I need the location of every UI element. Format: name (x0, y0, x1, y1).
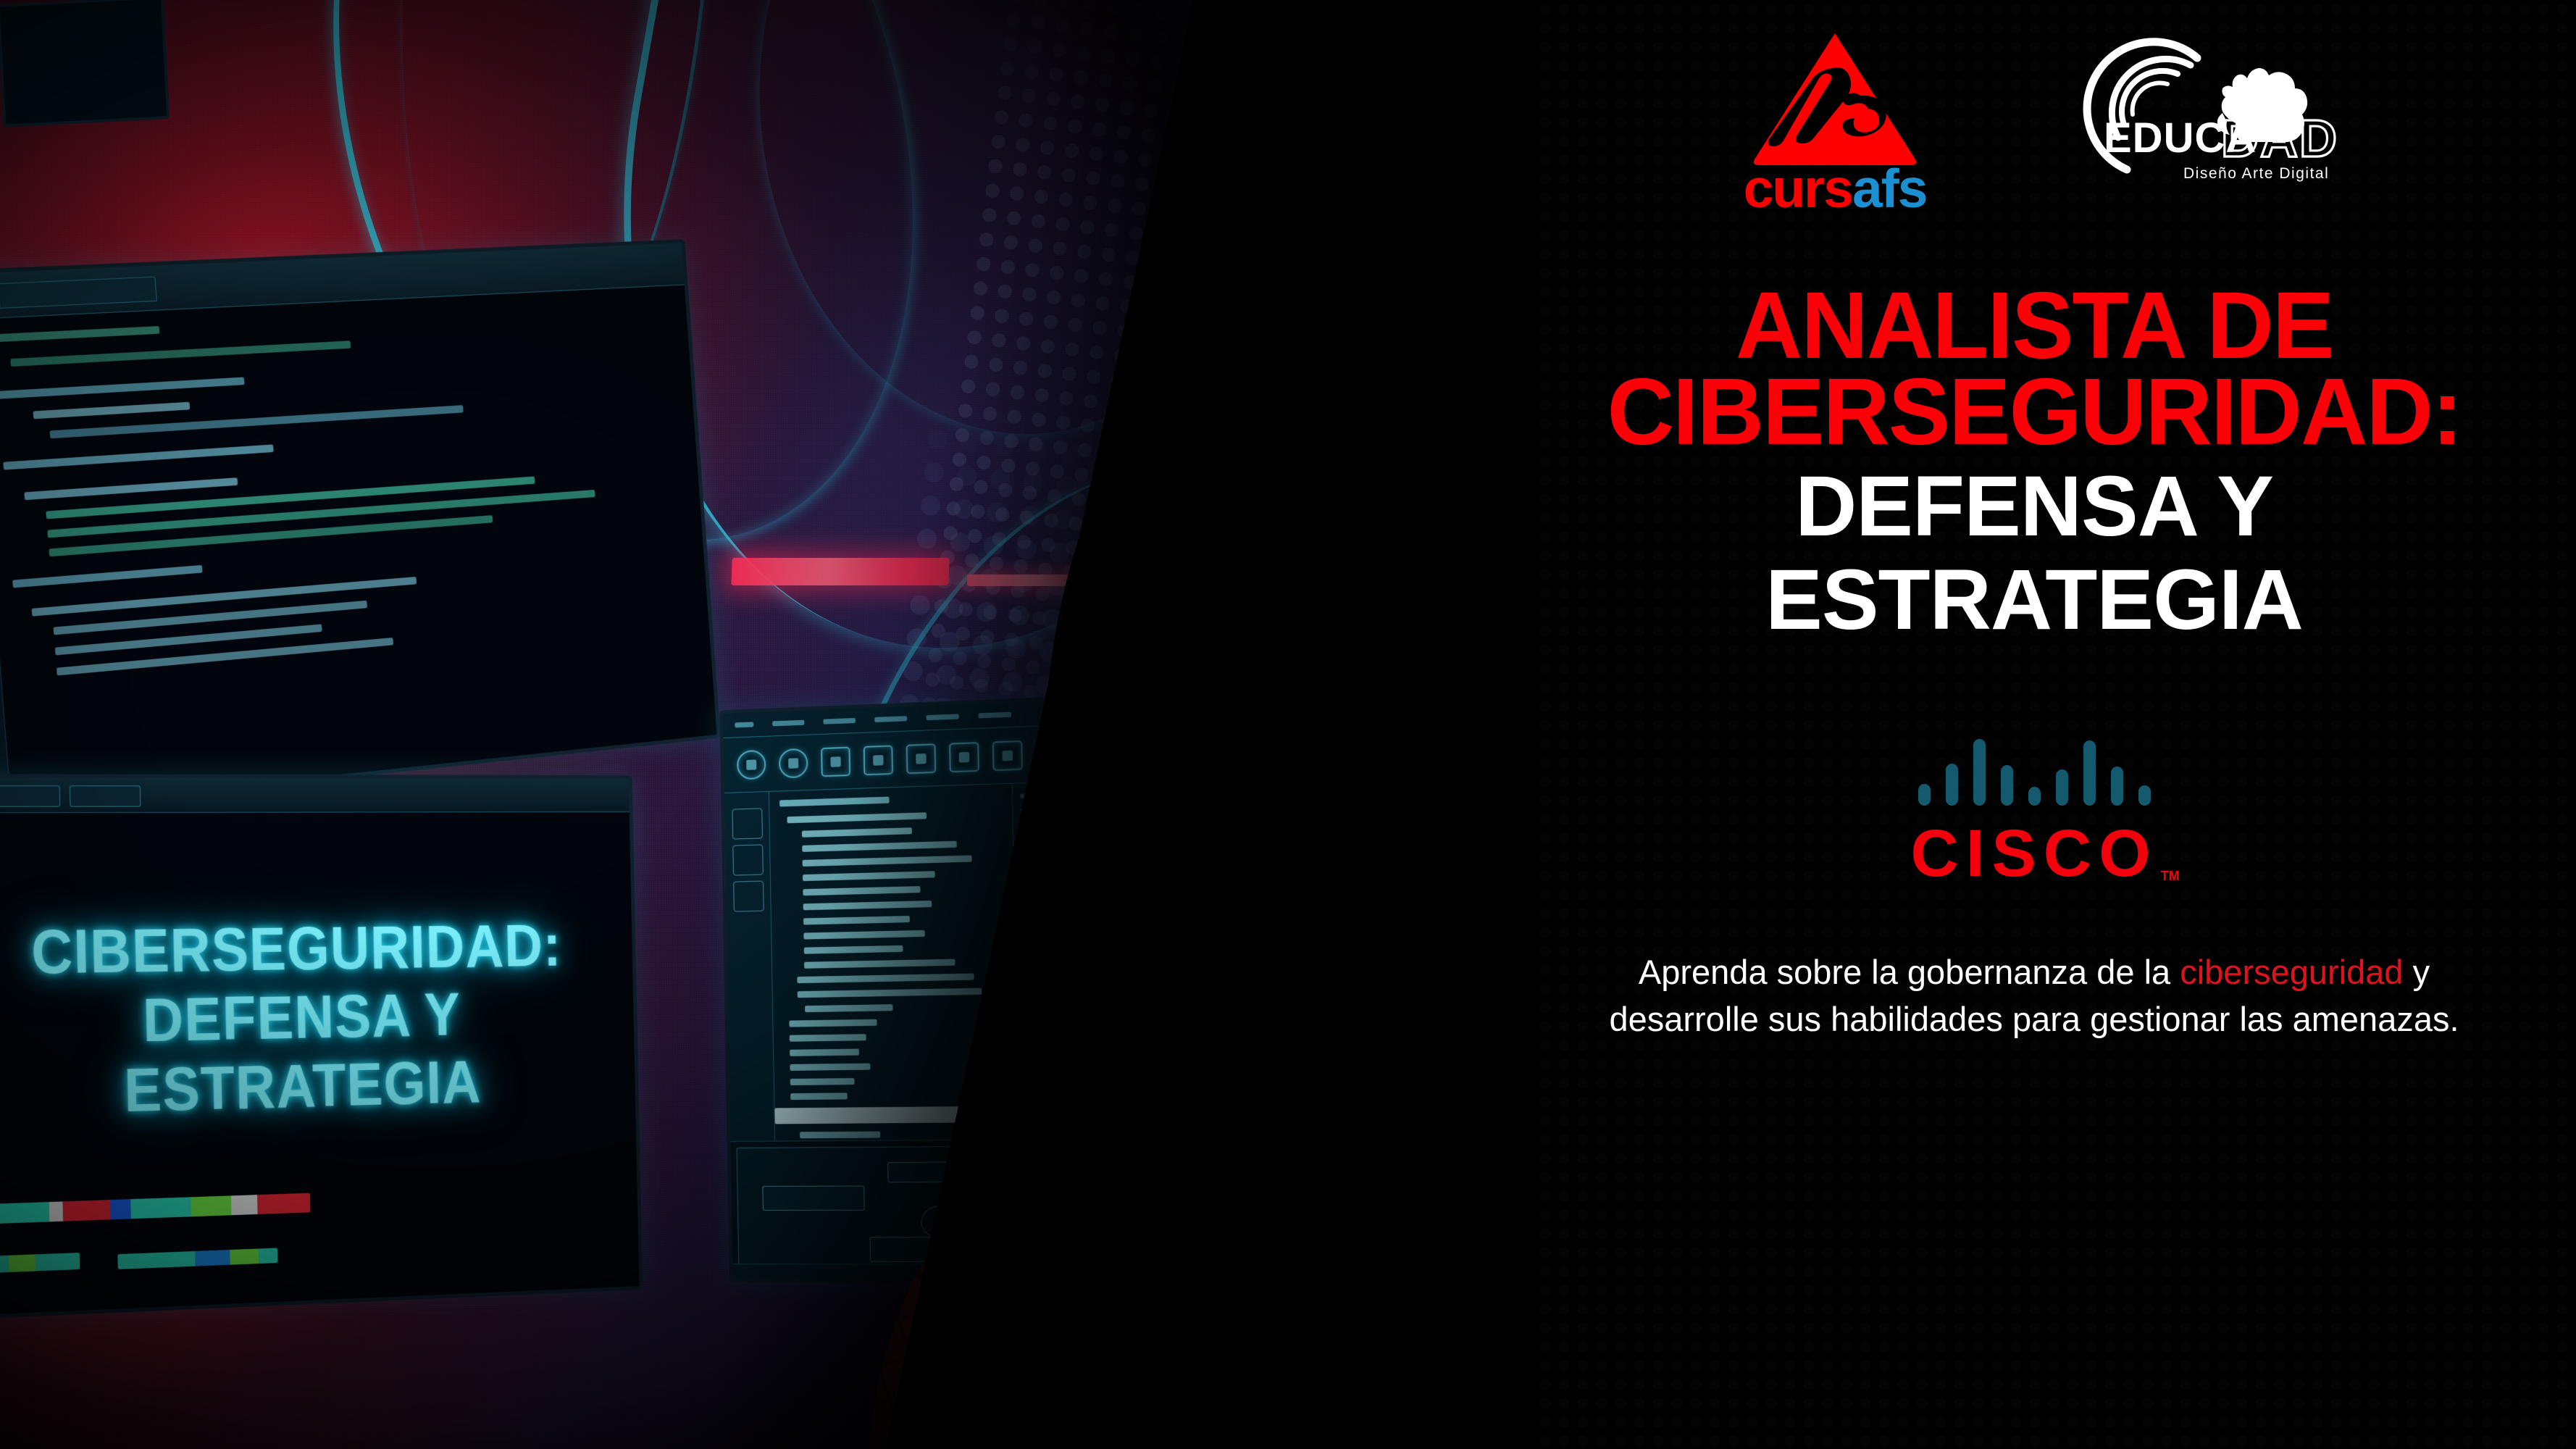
course-description: Aprenda sobre la gobernanza de la cibers… (1579, 949, 2489, 1043)
cisco-bar (2001, 765, 2013, 806)
cursafs-mark-icon (1744, 28, 1925, 169)
cisco-trademark: TM (2161, 869, 2180, 882)
promo-banner: CIBERSEGURIDAD: DEFENSA Y ESTRATEGIA (0, 0, 2576, 1449)
cursafs-wordmark: cursafs (1715, 164, 1954, 214)
title-line-1: ANALISTA DE (1492, 282, 2576, 369)
title-line-4: ESTRATEGIA (1492, 559, 2576, 641)
cisco-bar (2083, 740, 2096, 806)
cisco-bar (1973, 739, 1986, 806)
cursafs-logo[interactable]: cursafs (1715, 28, 1954, 214)
cisco-wordmark: CISCO TM (1910, 820, 2157, 887)
cisco-bar (2138, 785, 2151, 806)
educadad-logo[interactable]: EDUCA DAD Diseño Arte Digital (2049, 28, 2353, 191)
page-title: ANALISTA DE CIBERSEGURIDAD: DEFENSA Y ES… (1492, 283, 2576, 641)
cisco-word-text: CISCO (1910, 817, 2157, 890)
cisco-bar (2028, 787, 2041, 806)
description-part-1: Aprenda sobre la gobernanza de la (1639, 953, 2180, 991)
svg-text:Diseño Arte Digital: Diseño Arte Digital (2183, 165, 2329, 182)
cisco-bar (2111, 767, 2123, 806)
title-line-3: DEFENSA Y (1492, 465, 2576, 548)
logo-row: cursafs EDUCA (1492, 28, 2576, 214)
content-column: cursafs EDUCA (1492, 0, 2576, 1449)
cisco-bar (1946, 764, 1958, 806)
cisco-bridge-icon (1492, 739, 2576, 806)
cisco-bar (2056, 769, 2068, 806)
cisco-bar (1918, 784, 1931, 806)
cisco-logo[interactable]: CISCO TM (1492, 739, 2576, 887)
description-highlight: ciberseguridad (2180, 953, 2403, 991)
title-line-2: CIBERSEGURIDAD: (1492, 368, 2576, 456)
svg-text:DAD: DAD (2221, 110, 2338, 168)
